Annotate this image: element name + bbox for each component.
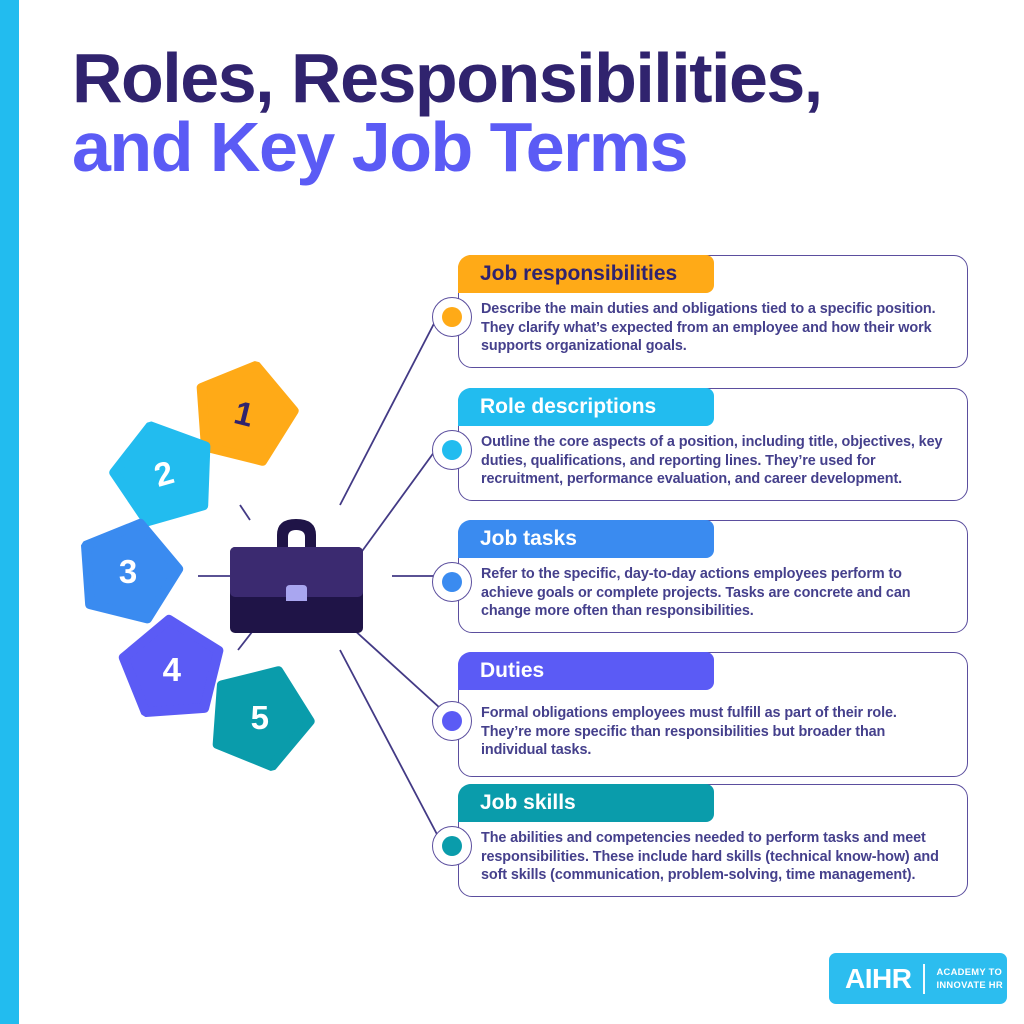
card-badge [432,826,472,866]
card-badge [432,562,472,602]
badge-dot [442,307,462,327]
card-badge [432,297,472,337]
term-card-job-tasks[interactable]: Job tasks Refer to the specific, day-to-… [458,520,968,633]
logo-divider [923,964,925,994]
card-header: Duties [458,652,714,690]
card-header: Job skills [458,784,714,822]
left-accent-bar [0,0,19,1024]
term-card-duties[interactable]: Duties Formal obligations employees must… [458,652,968,777]
term-card-job-responsibilities[interactable]: Job responsibilities Describe the main d… [458,255,968,368]
badge-dot [442,836,462,856]
briefcase-icon [228,505,365,637]
term-card-role-descriptions[interactable]: Role descriptions Outline the core aspec… [458,388,968,501]
card-title: Duties [480,659,544,683]
card-title: Job skills [480,791,576,815]
logo-tagline-line-2: INNOVATE HR [936,979,1003,990]
card-header: Role descriptions [458,388,714,426]
step-number-3: 3 [119,553,137,591]
badge-dot [442,572,462,592]
step-number-5: 5 [251,699,269,737]
page-title-line-2: and Key Job Terms [72,113,972,182]
card-body: Refer to the specific, day-to-day action… [459,558,967,632]
badge-dot [442,711,462,731]
logo-tagline: ACADEMY TO INNOVATE HR [936,966,1003,990]
card-header: Job tasks [458,520,714,558]
card-header: Job responsibilities [458,255,714,293]
card-body: Formal obligations employees must fulfil… [459,690,967,776]
logo-tagline-line-1: ACADEMY TO [936,966,1002,977]
card-title: Job responsibilities [480,262,677,286]
page-title-line-1: Roles, Responsibilities, [72,44,972,113]
term-card-job-skills[interactable]: Job skills The abilities and competencie… [458,784,968,897]
page-title: Roles, Responsibilities, and Key Job Ter… [72,44,972,181]
card-body: Outline the core aspects of a position, … [459,426,967,500]
card-badge [432,430,472,470]
card-title: Role descriptions [480,395,656,419]
card-badge [432,701,472,741]
logo-wordmark: AIHR [845,963,911,995]
card-body: The abilities and competencies needed to… [459,822,967,896]
aihr-logo[interactable]: AIHR ACADEMY TO INNOVATE HR [829,953,1007,1004]
card-body: Describe the main duties and obligations… [459,293,967,367]
card-title: Job tasks [480,527,577,551]
step-number-4: 4 [163,651,181,689]
badge-dot [442,440,462,460]
